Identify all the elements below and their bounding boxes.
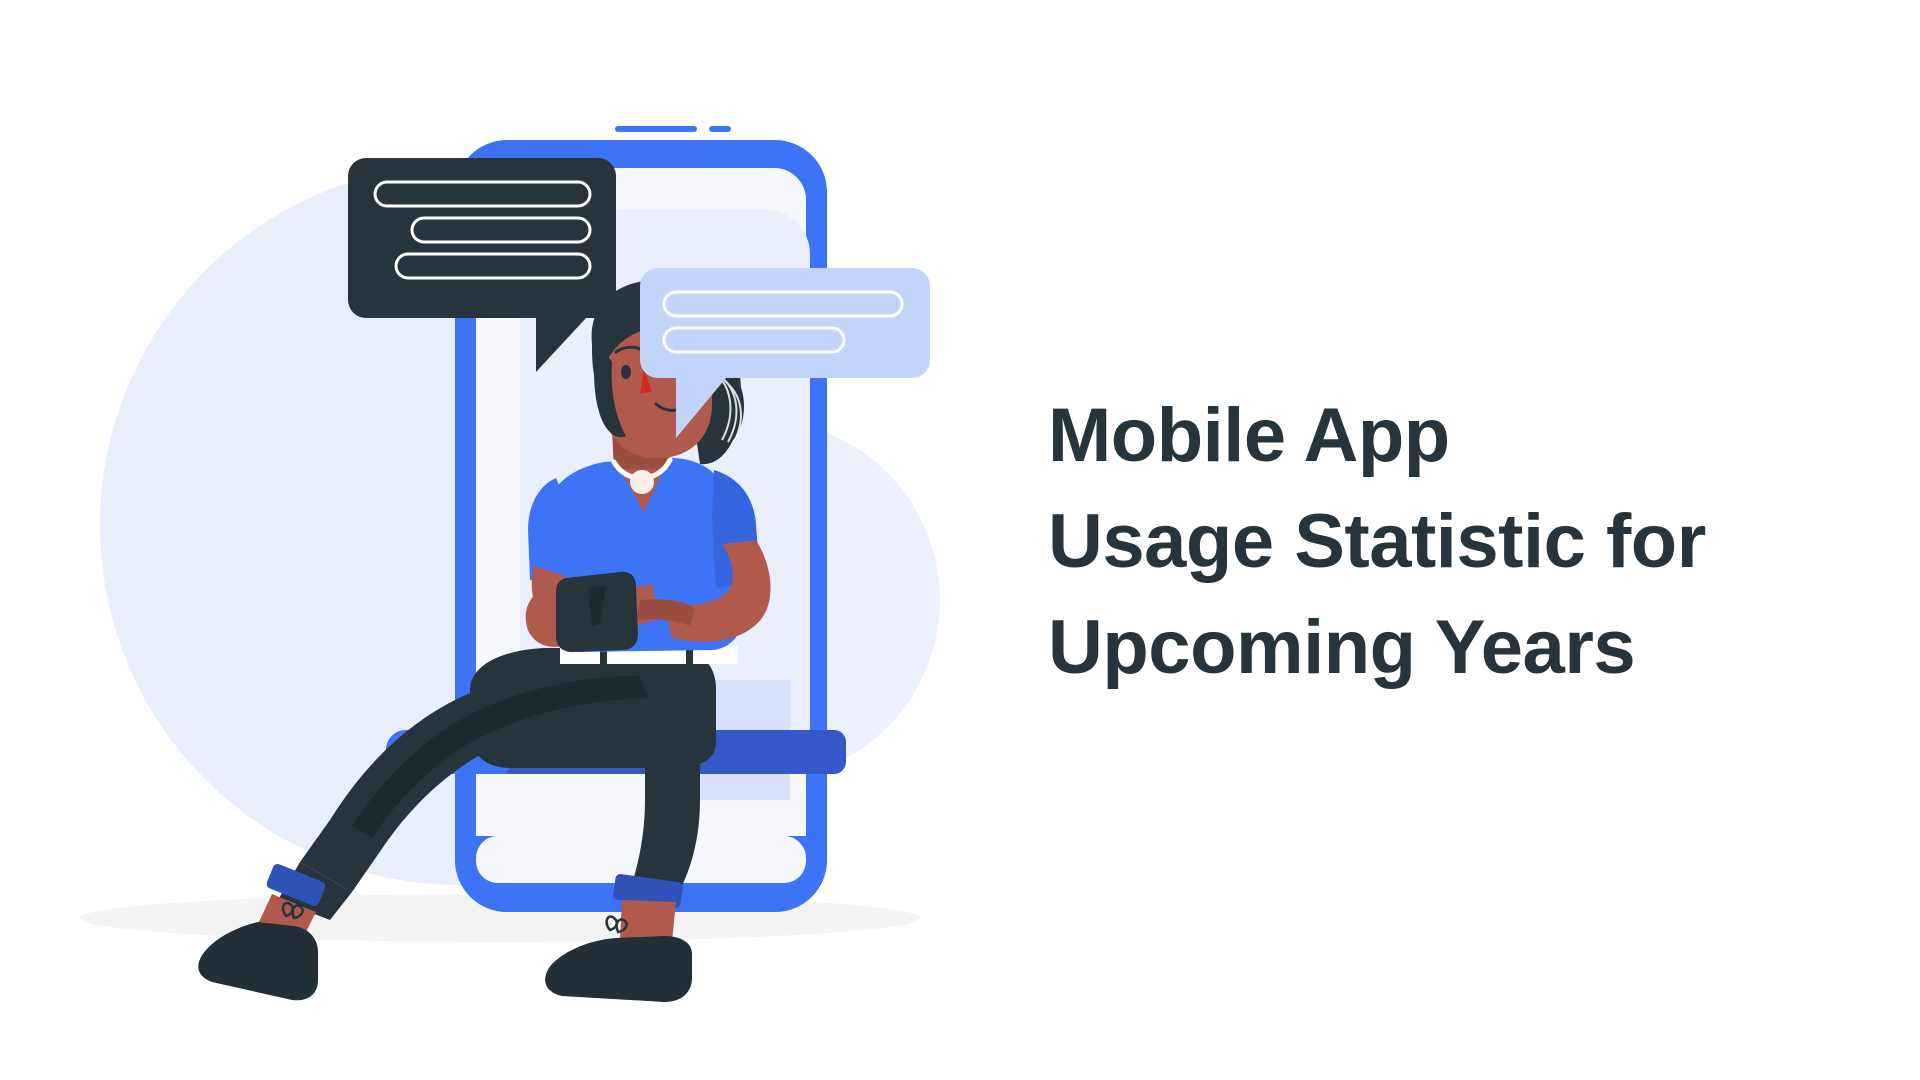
necklace-pendant [630, 470, 654, 494]
page-title-line-1: Mobile App [1048, 383, 1868, 489]
page-title-line-3: Upcoming Years [1048, 595, 1868, 701]
speaker-slot [615, 126, 697, 132]
page-title-line-2: Usage Statistic for [1048, 489, 1868, 595]
camera-dot [709, 126, 731, 132]
slide-root: Mobile App Usage Statistic for Upcoming … [0, 0, 1920, 1080]
shoe-right [545, 936, 692, 1002]
hero-illustration [0, 0, 1060, 1080]
eye-left [621, 365, 631, 379]
illustration-svg [0, 0, 1060, 1080]
page-title: Mobile App Usage Statistic for Upcoming … [1048, 383, 1868, 701]
ankle-right [620, 900, 676, 942]
light-bubble-body [640, 268, 930, 378]
